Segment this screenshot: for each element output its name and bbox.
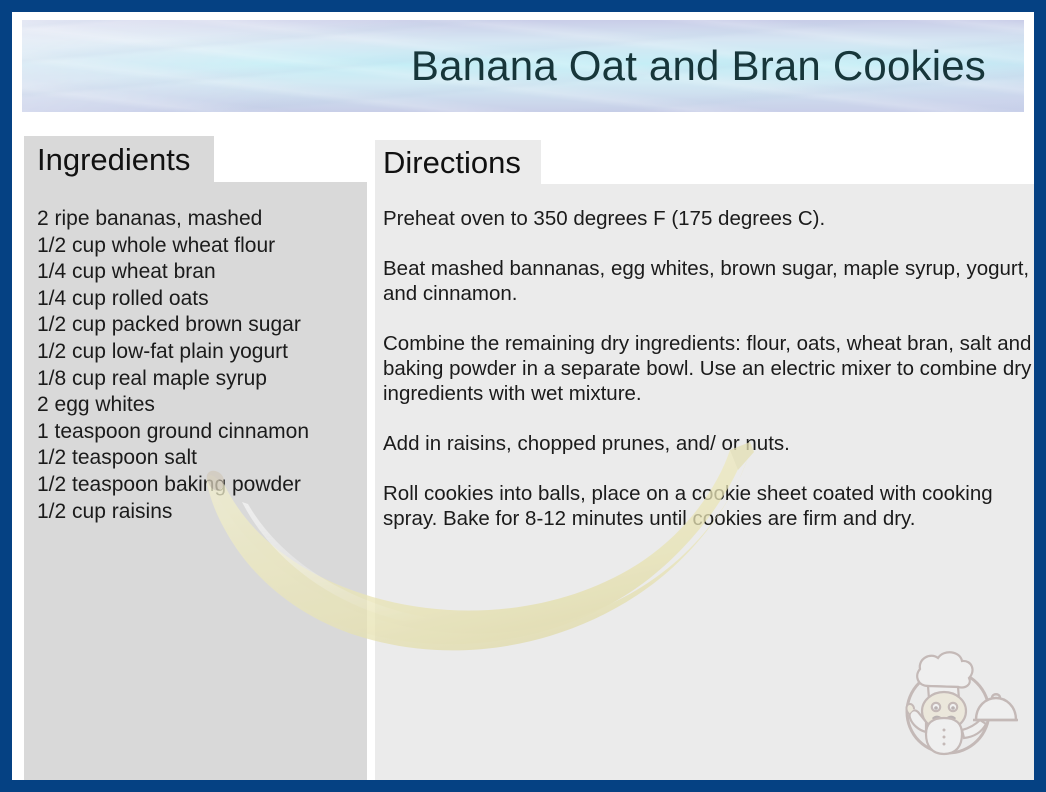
ingredient-item: 1/4 cup wheat bran [37, 259, 355, 286]
directions-panel: Preheat oven to 350 degrees F (175 degre… [375, 184, 1046, 786]
direction-step: Preheat oven to 350 degrees F (175 degre… [383, 206, 1032, 231]
ingredient-list: 2 ripe bananas, mashed1/2 cup whole whea… [37, 206, 355, 525]
ingredient-item: 1/8 cup real maple syrup [37, 366, 355, 393]
ingredients-panel: 2 ripe bananas, mashed1/2 cup whole whea… [24, 182, 367, 786]
direction-step: Beat mashed bannanas, egg whites, brown … [383, 256, 1032, 306]
ingredient-item: 1/2 teaspoon salt [37, 445, 355, 472]
directions-heading: Directions [383, 147, 521, 178]
ingredients-tab: Ingredients [24, 136, 214, 182]
directions-step-list: Preheat oven to 350 degrees F (175 degre… [383, 206, 1032, 531]
ingredient-item: 1/2 cup packed brown sugar [37, 312, 355, 339]
direction-step: Add in raisins, chopped prunes, and/ or … [383, 431, 1032, 456]
ingredient-item: 1/2 cup raisins [37, 499, 355, 526]
ingredient-item: 1/2 cup whole wheat flour [37, 233, 355, 260]
ingredients-heading: Ingredients [37, 144, 190, 175]
ingredient-item: 2 egg whites [37, 392, 355, 419]
title-banner: Banana Oat and Bran Cookies [22, 20, 1024, 112]
page-title: Banana Oat and Bran Cookies [411, 43, 1024, 89]
direction-step: Combine the remaining dry ingredients: f… [383, 331, 1032, 406]
directions-tab: Directions [375, 140, 541, 184]
ingredient-item: 1/2 cup low-fat plain yogurt [37, 339, 355, 366]
recipe-slide: Banana Oat and Bran Cookies Ingredients … [0, 0, 1046, 792]
ingredient-item: 1/2 teaspoon baking powder [37, 472, 355, 499]
direction-step: Roll cookies into balls, place on a cook… [383, 481, 1032, 531]
ingredient-item: 2 ripe bananas, mashed [37, 206, 355, 233]
ingredient-item: 1 teaspoon ground cinnamon [37, 419, 355, 446]
ingredient-item: 1/4 cup rolled oats [37, 286, 355, 313]
